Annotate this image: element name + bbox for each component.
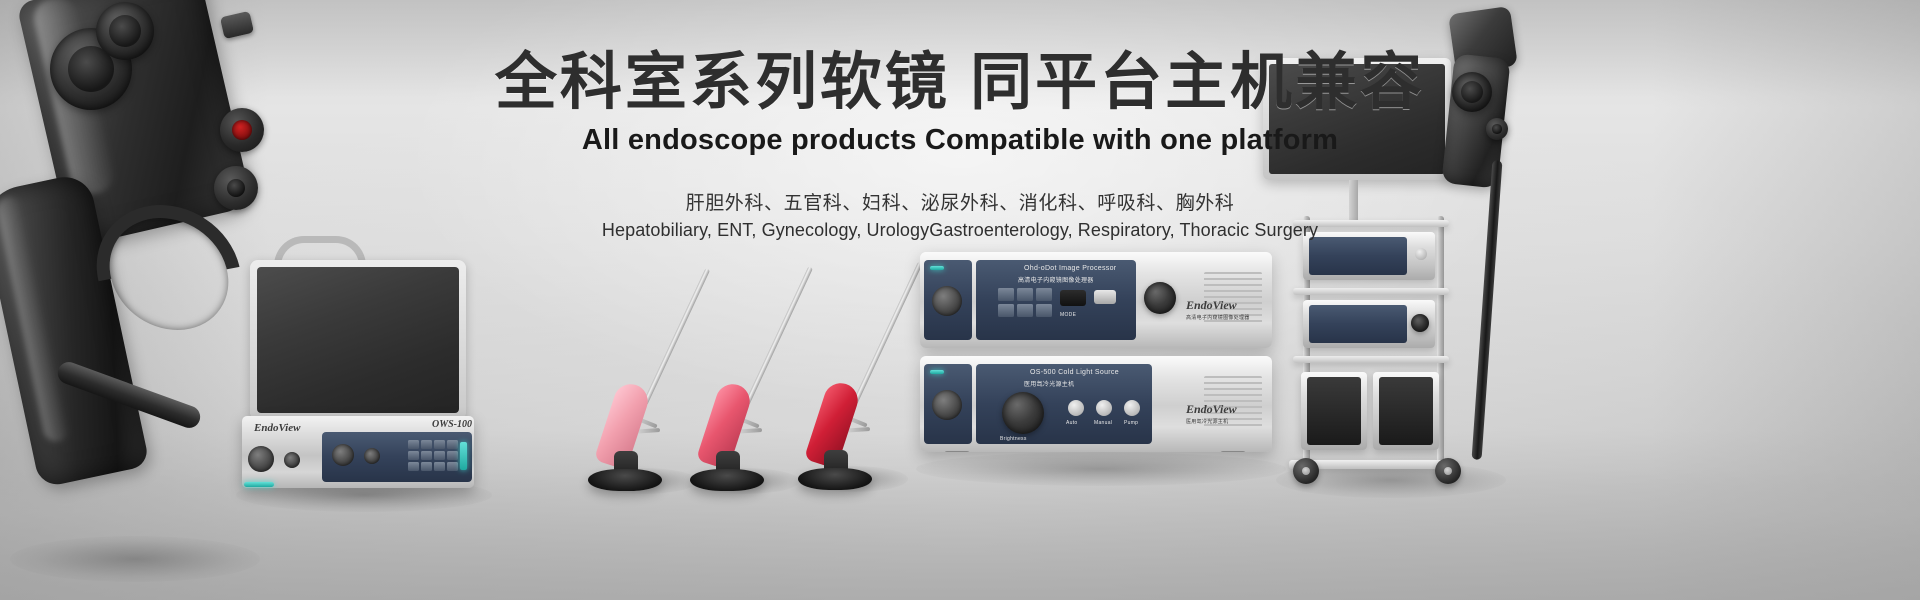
- headline-block: 全科室系列软镜 同平台主机兼容 All endoscope products C…: [0, 48, 1920, 241]
- scope-left-shadow: [10, 536, 260, 582]
- processor-top-dial[interactable]: [1144, 282, 1176, 314]
- processor-foot-right: [1220, 451, 1246, 452]
- processor-bottom-control-panel: OS-500 Cold Light Source 医用氙冷光源主机 Bright…: [976, 364, 1152, 444]
- console-model-label: OWS-100: [432, 419, 472, 430]
- trolley-wheel-left: [1293, 458, 1319, 484]
- processor-bottom-button-label-3: Pump: [1124, 420, 1138, 426]
- console-connector-block: [246, 436, 318, 480]
- trolley-processor-knob[interactable]: [1415, 248, 1427, 260]
- console-control-panel: [322, 432, 472, 482]
- processor-top-brand-sub: 高清电子内窥镜图像处理器: [1186, 314, 1250, 321]
- processor-bottom-button-manual[interactable]: [1096, 400, 1112, 416]
- processor-top-power-led: [930, 266, 944, 270]
- slim-scope-red: [716, 248, 880, 484]
- console-connector-aux[interactable]: [284, 452, 300, 468]
- trolley-device-insufflator: [1301, 372, 1367, 450]
- processor-top-display-window: [1060, 290, 1086, 306]
- trolley-device-processor-panel: [1309, 237, 1407, 275]
- processor-top-usb-port[interactable]: [1094, 290, 1116, 304]
- console-connector-main[interactable]: [248, 446, 274, 472]
- processor-bottom-button-auto[interactable]: [1068, 400, 1084, 416]
- processor-top-model-en: Ohd-oDot Image Processor: [1024, 265, 1116, 272]
- trolley-insufflator-display: [1307, 377, 1361, 445]
- processor-top-model-cn: 高清电子内窥镜图像处理器: [1018, 275, 1094, 284]
- trolley-device-light-source: [1303, 300, 1435, 348]
- processor-stack: Ohd-oDot Image Processor 高清电子内窥镜图像处理器 MO…: [920, 252, 1272, 462]
- processor-bottom-light-socket[interactable]: [932, 390, 962, 420]
- trolley-pump-display: [1379, 377, 1433, 445]
- processor-top-scope-socket[interactable]: [932, 286, 962, 316]
- processor-bottom-dial-label: Brightness: [1000, 436, 1027, 442]
- trolley-shelf-3: [1293, 356, 1449, 363]
- console-brand-label: EndoView: [254, 422, 300, 434]
- subtitle-english: Hepatobiliary, ENT, Gynecology, UrologyG…: [0, 220, 1920, 241]
- subtitle-chinese: 肝胆外科、五官科、妇科、泌尿外科、消化科、呼吸科、胸外科: [0, 188, 1920, 215]
- processor-top-panel-caption: MODE: [1060, 312, 1076, 318]
- processor-bottom-button-pump[interactable]: [1124, 400, 1140, 416]
- slim-scope-red-stand: [798, 468, 872, 490]
- processor-bottom-brightness-dial[interactable]: [1002, 392, 1044, 434]
- headline-english: All endoscope products Compatible with o…: [0, 123, 1920, 158]
- image-processor-unit: Ohd-oDot Image Processor 高清电子内窥镜图像处理器 MO…: [920, 252, 1272, 348]
- console-power-indicator: [244, 482, 274, 487]
- console-display-bezel: [250, 260, 466, 420]
- scope-top-tab-2: [220, 11, 254, 39]
- processor-bottom-brand: EndoView: [1186, 402, 1237, 417]
- console-scope-port-a[interactable]: [332, 444, 354, 466]
- processor-top-brand: EndoView: [1186, 298, 1237, 313]
- processor-bottom-model-en: OS-500 Cold Light Source: [1030, 369, 1119, 376]
- processor-bottom-button-label-2: Manual: [1094, 420, 1112, 426]
- console-keypad[interactable]: [408, 440, 458, 471]
- cold-light-source-unit: OS-500 Cold Light Source 医用氙冷光源主机 Bright…: [920, 356, 1272, 452]
- processor-bottom-left-panel: [924, 364, 972, 444]
- headline-chinese: 全科室系列软镜 同平台主机兼容: [0, 48, 1920, 117]
- processor-top-keypad[interactable]: [998, 288, 1052, 317]
- processor-foot-left: [944, 451, 970, 452]
- trolley-light-dial[interactable]: [1411, 314, 1429, 332]
- processor-bottom-power-led: [930, 370, 944, 374]
- console-display: [257, 267, 459, 413]
- processor-top-control-panel: Ohd-oDot Image Processor 高清电子内窥镜图像处理器 MO…: [976, 260, 1136, 340]
- processor-bottom-button-label-1: Auto: [1066, 420, 1078, 426]
- console-status-led: [460, 442, 467, 470]
- promo-banner: 全科室系列软镜 同平台主机兼容 All endoscope products C…: [0, 0, 1920, 600]
- slim-scope-red-shaft: [852, 262, 922, 405]
- console-scope-port-b[interactable]: [364, 448, 380, 464]
- processor-bottom-model-cn: 医用氙冷光源主机: [1024, 379, 1074, 388]
- trolley-shelf-2: [1293, 288, 1449, 295]
- processor-bottom-brand-sub: 医用氙冷光源主机: [1186, 418, 1228, 425]
- processor-top-left-panel: [924, 260, 972, 340]
- endoscope-workstation-console: OWS-100 EndoView: [236, 250, 486, 495]
- trolley-device-light-panel: [1309, 305, 1407, 343]
